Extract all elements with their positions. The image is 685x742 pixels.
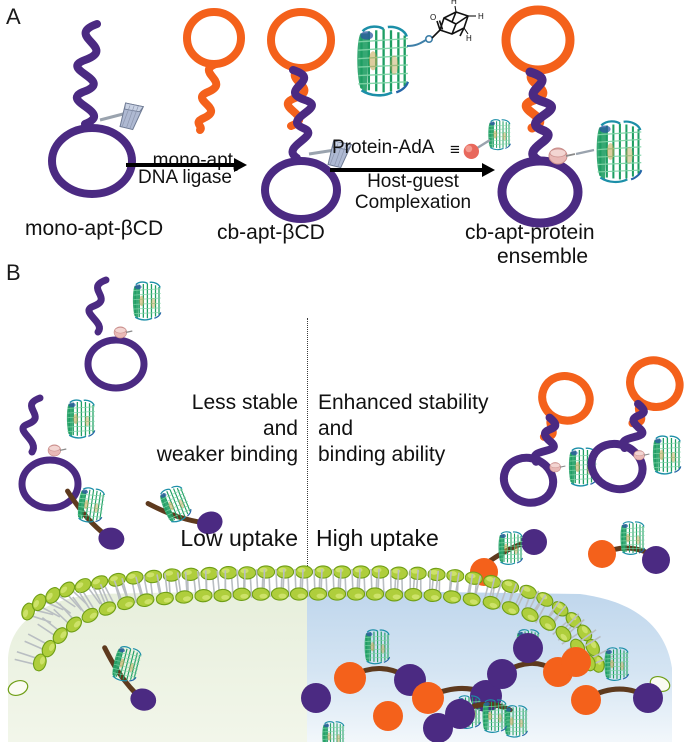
structure-right-ensemble-2	[588, 352, 685, 487]
adamantane-h-label-2: H	[478, 12, 484, 21]
label-cb-apt-protein-line1: cb-apt-protein	[465, 222, 595, 245]
left-caption-line1: Less stable	[186, 390, 298, 416]
structure-left-internalized-1	[92, 648, 202, 718]
internalized-blob-orange-2	[373, 701, 403, 731]
label-mono-apt-bcd: mono-apt-βCD	[25, 218, 163, 241]
right-caption-line3: binding ability	[318, 442, 445, 468]
panel-a-letter: A	[6, 6, 21, 28]
label-cb-apt-bcd: cb-apt-βCD	[217, 222, 325, 245]
internalized-protein-loose-2	[322, 722, 344, 742]
scientific-figure: A mono-apt-βCD mono-aptc DNA ligase	[0, 0, 685, 742]
right-caption-line1: Enhanced stability	[318, 390, 488, 416]
adamantane-h-label-3: H	[466, 34, 472, 43]
adamantane-h-label-1: H	[451, 0, 457, 6]
structure-left-conjugate-1	[58, 488, 158, 558]
right-uptake-label: High uptake	[316, 524, 439, 552]
internalized-blob-purple-2	[423, 713, 453, 742]
right-internalized-cluster	[330, 620, 685, 742]
reaction-2-above: Protein-AdA	[332, 138, 452, 159]
panel-b-letter: B	[6, 262, 21, 284]
right-caption-line2: and	[318, 416, 353, 442]
reaction-1-below: DNA ligase	[122, 168, 248, 189]
structure-left-ensemble-upper	[78, 272, 198, 397]
left-uptake-label: Low uptake	[178, 524, 298, 552]
structure-cb-apt-protein-ensemble	[490, 6, 685, 224]
reaction-2-below-line2: Complexation	[330, 193, 496, 214]
label-cb-apt-protein-line2: ensemble	[497, 246, 588, 269]
internalized-ensemble-1	[334, 630, 426, 696]
internalized-blob-purple-3	[301, 683, 331, 713]
internalized-blob-orange-1	[561, 647, 591, 677]
left-caption-line2: and	[186, 416, 298, 442]
reaction-2-below-line1: Host-guest	[330, 172, 496, 193]
internalized-blob-purple-1	[513, 633, 543, 663]
equivalence-symbol: ≡	[450, 140, 460, 160]
left-caption-line3: weaker binding	[150, 442, 298, 468]
adamantane-carbonyl-o-label: O	[430, 13, 436, 22]
